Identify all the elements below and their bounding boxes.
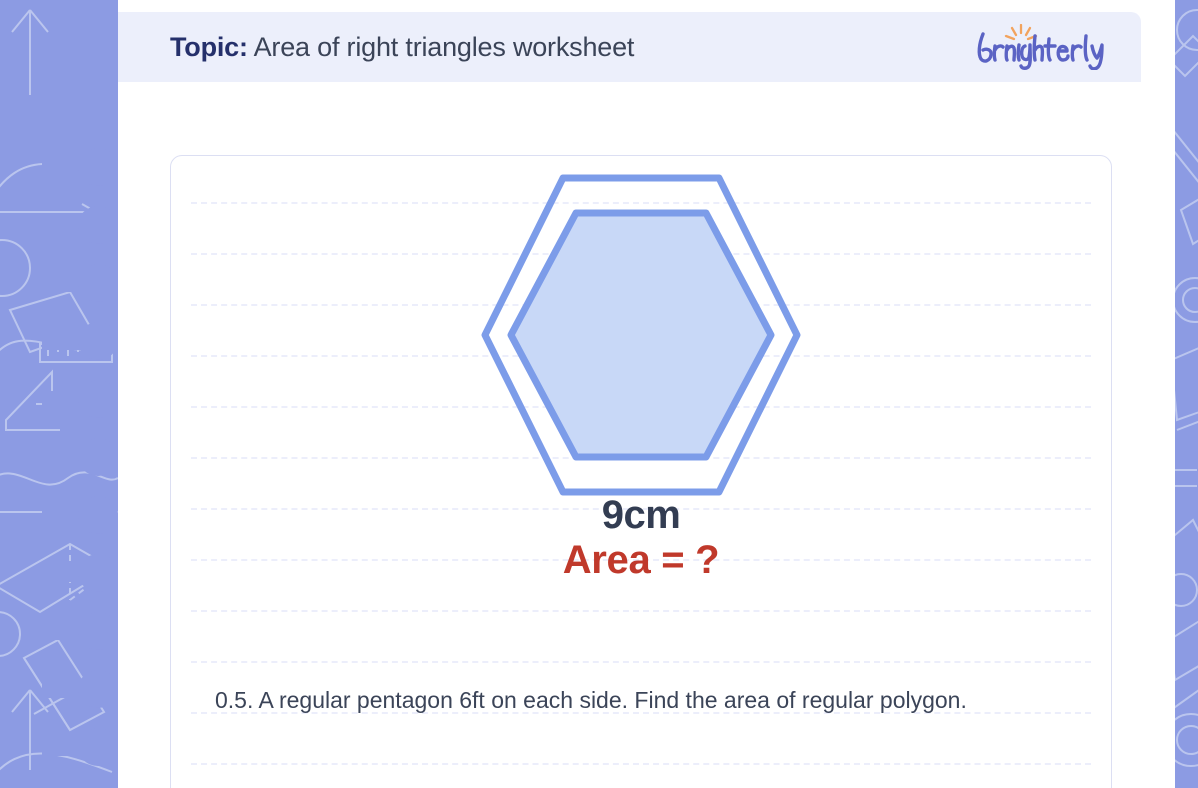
side-length-label: 9cm — [602, 494, 681, 536]
hexagon-inner-filled — [511, 213, 771, 457]
worksheet-page: Topic: Area of right triangles worksheet — [0, 0, 1198, 788]
page-title: Topic: Area of right triangles worksheet — [170, 32, 634, 63]
hexagon-figure-icon — [451, 170, 831, 500]
topic-label: Topic: — [170, 32, 248, 62]
figure-area: 9cm Area = ? — [171, 170, 1111, 640]
sparkle-icon — [1006, 25, 1036, 39]
right-decorative-band — [1175, 0, 1198, 788]
right-band-pattern-icon — [1175, 0, 1198, 788]
left-decorative-band — [0, 0, 118, 788]
topic-value: Area of right triangles worksheet — [254, 32, 635, 62]
ruled-line — [191, 763, 1091, 765]
worksheet-header: Topic: Area of right triangles worksheet — [118, 12, 1141, 82]
question-text: 0.5. A regular pentagon 6ft on each side… — [215, 684, 1061, 717]
brighterly-logo-icon — [975, 24, 1107, 70]
left-band-pattern-icon — [0, 0, 118, 788]
area-question-label: Area = ? — [563, 538, 720, 582]
ruled-line — [191, 661, 1091, 663]
worksheet-card: 9cm Area = ? 0.5. A regular pentagon 6ft… — [170, 155, 1112, 788]
brighterly-logo[interactable] — [975, 24, 1107, 70]
